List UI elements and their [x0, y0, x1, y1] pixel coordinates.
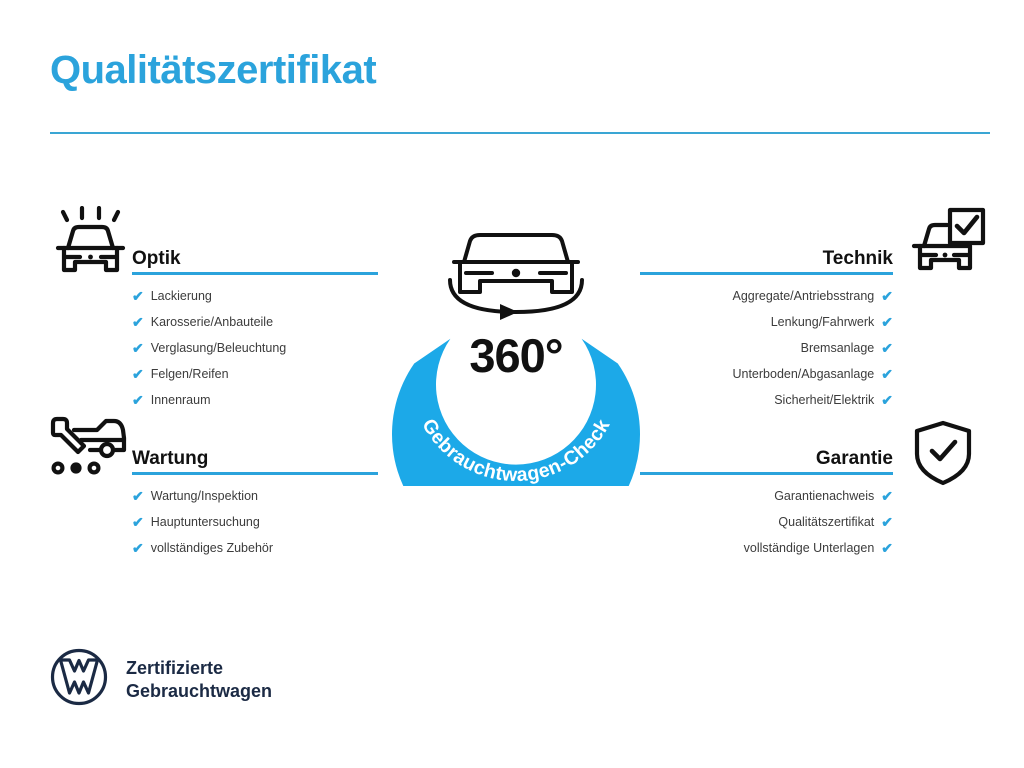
check-icon: ✔: [881, 367, 893, 381]
check-icon: ✔: [132, 341, 144, 355]
list-item: ✔Hauptuntersuchung: [132, 515, 378, 529]
certificate-page: Qualitätszertifikat Optik ✔Lackierung ✔K…: [0, 0, 1024, 768]
list-item: Unterboden/Abgasanlage✔: [640, 367, 893, 381]
list-item: ✔Verglasung/Beleuchtung: [132, 341, 378, 355]
list-item-label: vollständiges Zubehör: [151, 542, 273, 555]
list-item: ✔Innenraum: [132, 393, 378, 407]
check-icon: ✔: [881, 515, 893, 529]
page-title: Qualitätszertifikat: [50, 50, 376, 90]
list-item-label: Verglasung/Beleuchtung: [151, 342, 287, 355]
list-item-label: Garantienachweis: [774, 490, 874, 503]
list-item: ✔Wartung/Inspektion: [132, 489, 378, 503]
list-item: vollständige Unterlagen✔: [640, 541, 893, 555]
check-icon: ✔: [132, 393, 144, 407]
badge-center-value: 360°: [388, 332, 644, 379]
list-item-label: Felgen/Reifen: [151, 368, 229, 381]
section-technik-title: Technik: [823, 249, 893, 268]
list-item: ✔Lackierung: [132, 289, 378, 303]
section-garantie-title: Garantie: [816, 449, 893, 468]
section-garantie-items: Garantienachweis✔ Qualitätszertifikat✔ v…: [640, 489, 893, 555]
footer-line-2: Gebrauchtwagen: [126, 680, 272, 703]
vw-logo: [50, 648, 108, 711]
list-item: Bremsanlage✔: [640, 341, 893, 355]
list-item: ✔Karosserie/Anbauteile: [132, 315, 378, 329]
car-checkbox-icon: [906, 206, 986, 281]
check-icon: ✔: [132, 289, 144, 303]
footer-brand: Zertifizierte Gebrauchtwagen: [50, 648, 272, 711]
list-item-label: Aggregate/Antriebsstrang: [733, 290, 875, 303]
section-wartung-divider: [132, 472, 378, 475]
section-technik-items: Aggregate/Antriebsstrang✔ Lenkung/Fahrwe…: [640, 289, 893, 407]
section-garantie: Garantie Garantienachweis✔ Qualitätszert…: [640, 436, 893, 567]
list-item-label: Innenraum: [151, 394, 211, 407]
list-item: Qualitätszertifikat✔: [640, 515, 893, 529]
list-item: ✔vollständiges Zubehör: [132, 541, 378, 555]
list-item: Garantienachweis✔: [640, 489, 893, 503]
check-icon: ✔: [881, 341, 893, 355]
section-wartung-header: Wartung: [132, 436, 378, 472]
section-optik-header: Optik: [132, 236, 378, 272]
section-garantie-divider: [640, 472, 893, 475]
badge-360-check: Gebrauchtwagen-Check 360°: [388, 196, 644, 486]
section-technik: Technik Aggregate/Antriebsstrang✔ Lenkun…: [640, 236, 893, 419]
section-optik-items: ✔Lackierung ✔Karosserie/Anbauteile ✔Verg…: [132, 289, 378, 407]
list-item-label: Karosserie/Anbauteile: [151, 316, 273, 329]
list-item-label: Hauptuntersuchung: [151, 516, 260, 529]
section-wartung: Wartung ✔Wartung/Inspektion ✔Hauptunters…: [132, 436, 378, 567]
check-icon: ✔: [132, 315, 144, 329]
section-wartung-items: ✔Wartung/Inspektion ✔Hauptuntersuchung ✔…: [132, 489, 378, 555]
section-technik-header: Technik: [640, 236, 893, 272]
list-item: Aggregate/Antriebsstrang✔: [640, 289, 893, 303]
footer-line-1: Zertifizierte: [126, 657, 272, 680]
list-item-label: Lackierung: [151, 290, 212, 303]
car-rotate-icon: [450, 235, 582, 320]
list-item-label: Lenkung/Fahrwerk: [771, 316, 875, 329]
list-item-label: Bremsanlage: [801, 342, 875, 355]
check-icon: ✔: [881, 393, 893, 407]
section-garantie-header: Garantie: [640, 436, 893, 472]
check-icon: ✔: [132, 541, 144, 555]
section-technik-divider: [640, 272, 893, 275]
car-shine-icon: [48, 206, 130, 285]
list-item-label: Unterboden/Abgasanlage: [732, 368, 874, 381]
check-icon: ✔: [132, 515, 144, 529]
section-optik-divider: [132, 272, 378, 275]
shield-check-icon: [912, 420, 974, 491]
header-divider: [50, 132, 990, 134]
footer-text: Zertifizierte Gebrauchtwagen: [126, 657, 272, 702]
list-item-label: Qualitätszertifikat: [778, 516, 874, 529]
section-optik: Optik ✔Lackierung ✔Karosserie/Anbauteile…: [132, 236, 378, 419]
check-icon: ✔: [881, 315, 893, 329]
section-wartung-title: Wartung: [132, 449, 208, 468]
list-item-label: Wartung/Inspektion: [151, 490, 258, 503]
section-optik-title: Optik: [132, 249, 181, 268]
wrench-car-icon: [48, 416, 130, 485]
list-item-label: vollständige Unterlagen: [744, 542, 875, 555]
check-icon: ✔: [132, 367, 144, 381]
list-item: ✔Felgen/Reifen: [132, 367, 378, 381]
list-item-label: Sicherheit/Elektrik: [774, 394, 874, 407]
check-icon: ✔: [881, 289, 893, 303]
list-item: Sicherheit/Elektrik✔: [640, 393, 893, 407]
list-item: Lenkung/Fahrwerk✔: [640, 315, 893, 329]
check-icon: ✔: [132, 489, 144, 503]
check-icon: ✔: [881, 489, 893, 503]
check-icon: ✔: [881, 541, 893, 555]
